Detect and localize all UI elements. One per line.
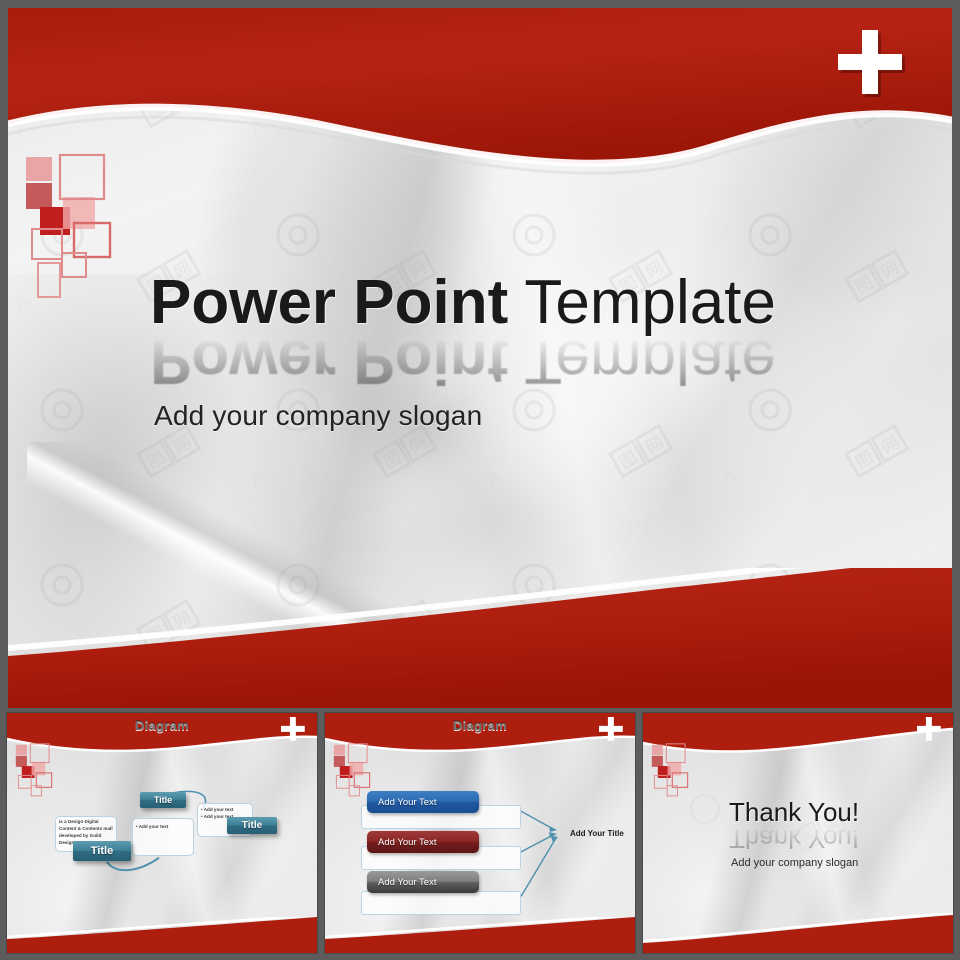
- red-squares-decoration: [18, 153, 138, 303]
- thumb3-title-reflection: Thank You!: [729, 823, 859, 854]
- thumbnail-diagram-1[interactable]: Diagram is a Des: [6, 712, 318, 954]
- thumb3-bottom-red-wave: [643, 913, 953, 953]
- medical-cross-icon: [281, 717, 307, 743]
- thumb2-bar-red[interactable]: Add Your Text: [367, 831, 479, 853]
- slide-title: Power Point Template: [150, 270, 776, 335]
- thumb1-tile-top[interactable]: Title: [140, 792, 186, 808]
- thumbnail-diagram-2[interactable]: Diagram: [324, 712, 636, 954]
- title-block: Power Point Template Power Point Templat…: [150, 270, 776, 394]
- thumb3-slogan: Add your company slogan: [731, 857, 858, 869]
- slide-slogan: Add your company slogan: [154, 400, 482, 432]
- thumb1-tile-main[interactable]: Title: [73, 841, 131, 861]
- thumbnail-thank-you[interactable]: 图 网: [642, 712, 954, 954]
- top-red-wave-banner: [8, 8, 952, 198]
- slide-title-reflection-regular: Template: [524, 327, 776, 396]
- thumb2-bar-blue[interactable]: Add Your Text: [367, 791, 479, 813]
- bottom-red-wave-banner: [8, 568, 952, 708]
- presentation-preview-page: 图 网 六: [0, 0, 960, 960]
- thumb1-bullet-mid-text: Add your text: [139, 824, 169, 829]
- thumb2-outline-3[interactable]: [361, 891, 521, 915]
- thumb1-bullet-mid: • Add your text: [136, 823, 168, 830]
- thumb2-bar-grey[interactable]: Add Your Text: [367, 871, 479, 893]
- medical-cross-icon: [599, 717, 625, 743]
- medical-cross-icon: [917, 717, 943, 743]
- medical-cross-icon: [838, 30, 908, 100]
- thumb1-tile-right[interactable]: Title: [227, 817, 277, 834]
- slide-title-bold: Power Point: [150, 268, 508, 337]
- thumb1-title: Diagram: [7, 718, 317, 733]
- main-slide[interactable]: 图 网 六: [8, 8, 952, 708]
- red-squares-decoration: [329, 743, 383, 807]
- red-squares-decoration: [647, 743, 701, 807]
- slide-title-regular: Template: [524, 268, 776, 337]
- red-squares-decoration: [11, 743, 65, 807]
- thumb1-bullet-right-1: Add your text: [204, 807, 234, 812]
- slide-thumbnail-row: Diagram is a Des: [0, 712, 960, 960]
- slide-title-reflection: Power Point Template: [150, 329, 776, 394]
- thumb2-target-title: Add Your Title: [570, 829, 624, 838]
- thumb2-title: Diagram: [325, 718, 635, 733]
- slide-title-reflection-bold: Power Point: [150, 327, 508, 396]
